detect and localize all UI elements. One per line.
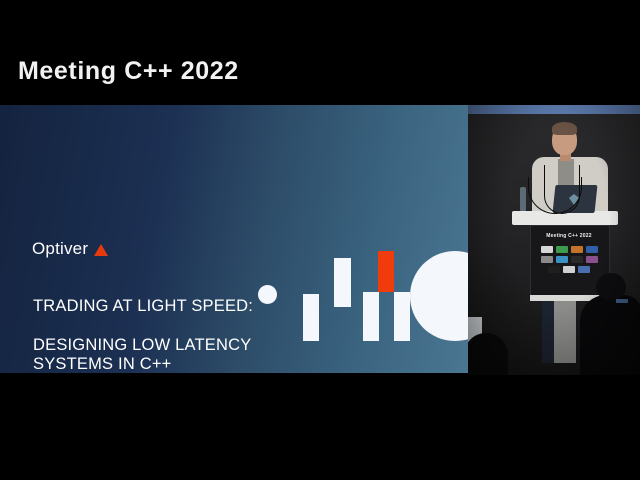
optiver-wordmark: Optiver: [32, 239, 88, 259]
slide-headline-line-1: TRADING AT LIGHT SPEED:: [33, 297, 293, 316]
video-player-frame: Meeting C++ 2022 Optiver TRADING AT LIGH…: [0, 0, 640, 480]
triangle-icon: [94, 244, 108, 256]
speaker-camera-pane: Meeting C++ 2022: [468, 105, 640, 375]
graphic-circle-large: [410, 251, 468, 341]
slide-headline-line-3: SYSTEMS IN C++: [33, 355, 293, 373]
graphic-bar-3: [363, 292, 379, 341]
graphic-bar-accent: [378, 251, 394, 292]
video-title-bar: Meeting C++ 2022: [0, 0, 640, 105]
optiver-logo: Optiver: [32, 239, 108, 259]
graphic-bar-1: [303, 294, 319, 341]
slide-headline: TRADING AT LIGHT SPEED: DESIGNING LOW LA…: [33, 297, 293, 373]
presentation-slide: Optiver TRADING AT LIGHT SPEED: DESIGNIN…: [0, 105, 468, 373]
letterbox-bottom: [0, 375, 640, 480]
graphic-bar-2: [334, 258, 351, 307]
graphic-bar-4: [394, 292, 410, 341]
slide-headline-line-2: DESIGNING LOW LATENCY: [33, 336, 293, 355]
camera-vignette: [468, 105, 640, 375]
video-title-text: Meeting C++ 2022: [18, 57, 239, 86]
